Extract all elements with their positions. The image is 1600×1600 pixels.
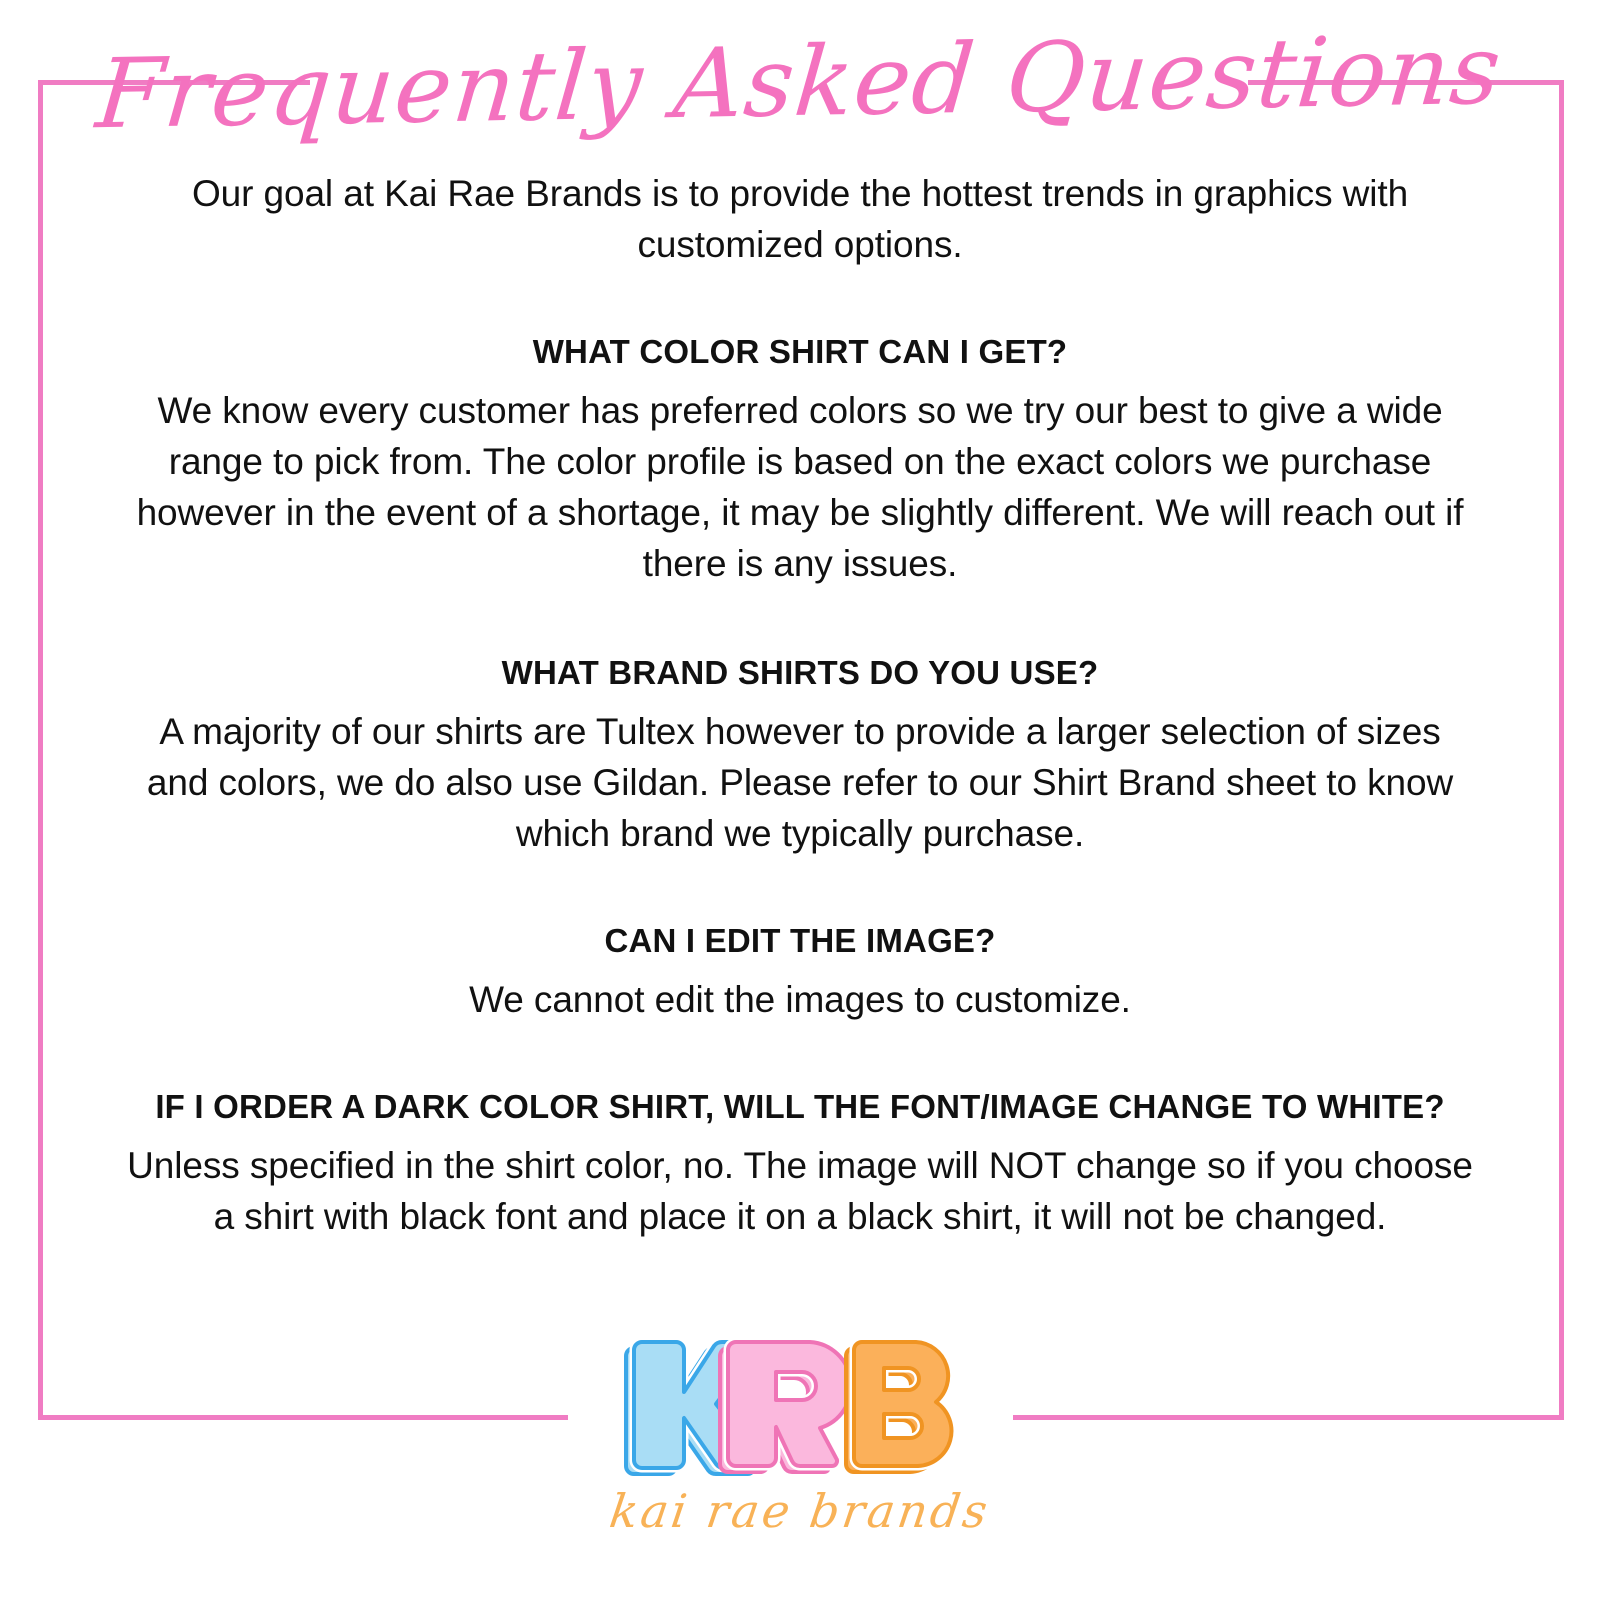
frame-bottom-left-border <box>38 1415 568 1420</box>
faq-content: Our goal at Kai Rae Brands is to provide… <box>120 168 1480 1242</box>
frame-right-border <box>1559 82 1564 1420</box>
page-title-container: Frequently Asked Questions <box>0 0 1600 148</box>
brand-logo: kai rae brands <box>580 1338 1020 1538</box>
logo-tagline: kai rae brands <box>576 1484 1024 1538</box>
frame-bottom-right-border <box>1013 1415 1564 1420</box>
faq-answer: We cannot edit the images to customize. <box>120 974 1480 1025</box>
krb-logo-icon <box>620 1338 980 1488</box>
faq-item: WHAT BRAND SHIRTS DO YOU USE? A majority… <box>120 651 1480 859</box>
faq-item: CAN I EDIT THE IMAGE? We cannot edit the… <box>120 919 1480 1025</box>
faq-question: WHAT BRAND SHIRTS DO YOU USE? <box>120 651 1480 696</box>
faq-item: IF I ORDER A DARK COLOR SHIRT, WILL THE … <box>120 1085 1480 1242</box>
faq-page: Frequently Asked Questions Our goal at K… <box>0 0 1600 1600</box>
faq-question: CAN I EDIT THE IMAGE? <box>120 919 1480 964</box>
faq-question: IF I ORDER A DARK COLOR SHIRT, WILL THE … <box>120 1085 1480 1130</box>
frame-top-left-border <box>38 80 310 85</box>
logo-letter-r-icon <box>720 1342 851 1472</box>
faq-answer: Unless specified in the shirt color, no.… <box>120 1140 1480 1242</box>
faq-answer: A majority of our shirts are Tultex howe… <box>120 706 1480 859</box>
frame-top-right-border <box>1248 80 1564 85</box>
faq-answer: We know every customer has preferred col… <box>120 385 1480 589</box>
frame-left-border <box>38 82 43 1420</box>
intro-paragraph: Our goal at Kai Rae Brands is to provide… <box>120 168 1480 270</box>
logo-letter-b-icon <box>846 1342 951 1472</box>
faq-question: WHAT COLOR SHIRT CAN I GET? <box>120 330 1480 375</box>
faq-item: WHAT COLOR SHIRT CAN I GET? We know ever… <box>120 330 1480 589</box>
